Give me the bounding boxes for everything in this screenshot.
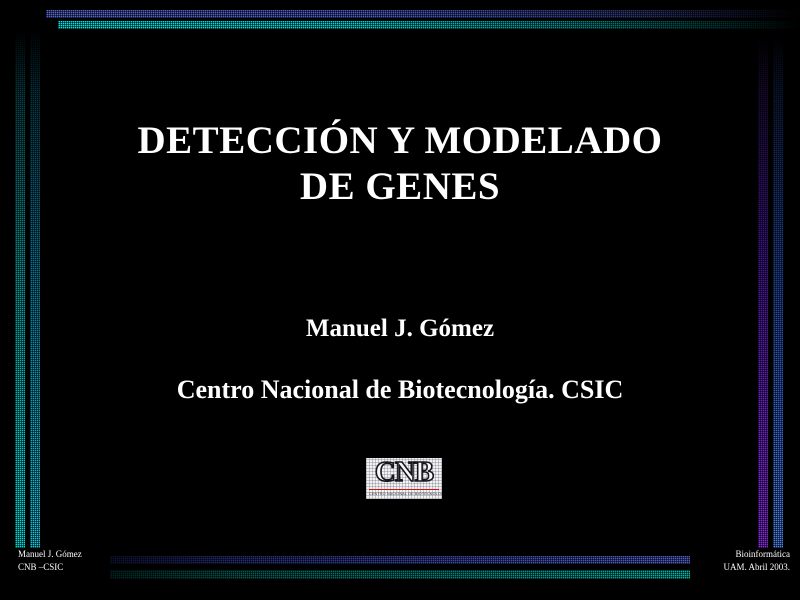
- decor-bar-bottom-cyan: [110, 570, 690, 579]
- dither-overlay: [30, 30, 40, 548]
- footer-right: Bioinformática UAM. Abril 2003.: [723, 548, 790, 574]
- decor-bar-right-purple: [758, 36, 768, 548]
- footer-right-line-1: Bioinformática: [723, 548, 790, 561]
- dither-overlay: [15, 30, 25, 548]
- footer-left: Manuel J. Gómez CNB –CSIC: [18, 548, 82, 574]
- dither-overlay: [773, 36, 783, 548]
- dither-overlay: [110, 570, 690, 579]
- cnb-logo-letters: CNB: [366, 458, 442, 489]
- dither-overlay: [58, 21, 800, 29]
- decor-bar-left-outer: [15, 30, 25, 548]
- decor-bar-bottom-blue: [110, 556, 690, 564]
- presentation-slide: DETECCIÓN Y MODELADO DE GENES Manuel J. …: [0, 0, 800, 600]
- dither-overlay: [46, 10, 800, 18]
- cnb-logo-caption: CENTRO NACIONAL DE BIOTECNOLOGÍA: [369, 490, 439, 497]
- cnb-logo: CNB CENTRO NACIONAL DE BIOTECNOLOGÍA: [366, 458, 442, 499]
- dither-overlay: [758, 36, 768, 548]
- slide-title-line-1: DETECCIÓN Y MODELADO: [100, 118, 700, 164]
- footer-left-line-1: Manuel J. Gómez: [18, 548, 82, 561]
- slide-title: DETECCIÓN Y MODELADO DE GENES: [100, 118, 700, 210]
- decor-bar-right-blue: [773, 36, 783, 548]
- slide-title-line-2: DE GENES: [100, 164, 700, 210]
- dither-overlay: [110, 556, 690, 564]
- decor-bar-top-blue: [46, 10, 800, 18]
- presenter-name: Manuel J. Gómez: [100, 315, 700, 343]
- decor-bar-top-cyan: [58, 21, 800, 29]
- decor-bar-left-inner: [30, 30, 40, 548]
- affiliation-text: Centro Nacional de Biotecnología. CSIC: [60, 375, 740, 405]
- footer-right-line-2: UAM. Abril 2003.: [723, 561, 790, 574]
- footer-left-line-2: CNB –CSIC: [18, 561, 82, 574]
